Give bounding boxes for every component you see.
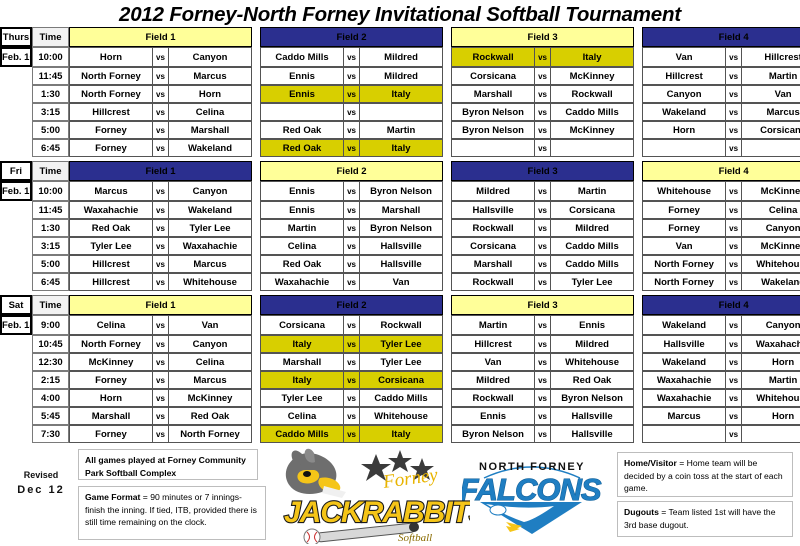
away-team: Rockwall: [360, 315, 443, 335]
schedule-row: 12:30McKinneyvsCelinaMarshallvsTyler Lee…: [0, 353, 800, 371]
field-gap: [634, 121, 642, 139]
game-time: 6:45: [32, 273, 69, 291]
field-gap: [252, 201, 260, 219]
home-team: Celina: [260, 237, 343, 255]
field-gap: [634, 103, 642, 121]
away-team: Byron Nelson: [360, 219, 443, 237]
home-team: Forney: [642, 201, 725, 219]
vs-label: vs: [343, 85, 360, 103]
away-team: Van: [169, 315, 252, 335]
time-column-header: Time: [32, 161, 69, 181]
field-gap: [443, 353, 451, 371]
home-team: Waxahachie: [69, 201, 152, 219]
vs-label: vs: [343, 237, 360, 255]
home-team: Marcus: [642, 407, 725, 425]
home-team: McKinney: [69, 353, 152, 371]
field-gap: [443, 67, 451, 85]
home-team: Red Oak: [69, 219, 152, 237]
day-filler: [0, 237, 32, 255]
vs-label: vs: [152, 273, 169, 291]
game-time: 9:00: [32, 315, 69, 335]
away-team: [742, 425, 800, 443]
vs-label: vs: [343, 67, 360, 85]
dugouts-note: Dugouts = Team listed 1st will have the …: [617, 501, 793, 537]
field-gap: [634, 67, 642, 85]
field-gap: [252, 425, 260, 443]
vs-label: vs: [152, 425, 169, 443]
away-team: Italy: [551, 47, 634, 67]
vs-label: vs: [534, 103, 551, 121]
vs-label: vs: [725, 201, 742, 219]
game-time: 5:00: [32, 255, 69, 273]
away-team: Caddo Mills: [551, 255, 634, 273]
vs-label: vs: [343, 139, 360, 157]
vs-label: vs: [152, 371, 169, 389]
vs-label: vs: [343, 255, 360, 273]
field-gap: [634, 407, 642, 425]
away-team: [360, 103, 443, 121]
north-forney-falcons-logo: NORTH FORNEY FALCONS: [462, 450, 602, 538]
day-filler: [0, 273, 32, 291]
page-title: 2012 Forney-North Forney Invitational So…: [0, 0, 800, 27]
field-gap: [634, 201, 642, 219]
away-team: Mildred: [360, 67, 443, 85]
home-team: Canyon: [642, 85, 725, 103]
vs-label: vs: [152, 315, 169, 335]
field-gap: [634, 139, 642, 157]
away-team: Waxahachie: [742, 335, 800, 353]
away-team: Canyon: [169, 335, 252, 353]
game-time: 3:15: [32, 103, 69, 121]
game-time: 2:15: [32, 371, 69, 389]
away-team: Hallsville: [360, 237, 443, 255]
field-header-4: Field 4: [642, 27, 800, 47]
away-team: Caddo Mills: [360, 389, 443, 407]
field-gap: [634, 371, 642, 389]
home-team: Waxahachie: [642, 371, 725, 389]
field-gap: [443, 425, 451, 443]
home-team: Waxahachie: [642, 389, 725, 407]
home-team: [642, 425, 725, 443]
field-gap: [252, 85, 260, 103]
field-gap: [252, 139, 260, 157]
away-team: McKinney: [551, 121, 634, 139]
day-filler: [0, 67, 32, 85]
field-gap: [634, 237, 642, 255]
away-team: Horn: [169, 85, 252, 103]
vs-label: vs: [725, 219, 742, 237]
field-gap: [634, 335, 642, 353]
away-team: Italy: [360, 85, 443, 103]
vs-label: vs: [534, 47, 551, 67]
day-name-thurs: Thurs: [0, 27, 32, 47]
home-team: Whitehouse: [642, 181, 725, 201]
vs-label: vs: [152, 389, 169, 407]
vs-label: vs: [343, 273, 360, 291]
home-team: Horn: [69, 47, 152, 67]
game-time: 12:30: [32, 353, 69, 371]
day-filler: [0, 353, 32, 371]
game-time: 5:00: [32, 121, 69, 139]
game-time: 1:30: [32, 219, 69, 237]
away-team: Marcus: [169, 67, 252, 85]
away-team: Canyon: [169, 47, 252, 67]
away-team: Canyon: [742, 315, 800, 335]
home-team: Ennis: [260, 201, 343, 219]
home-team: Hillcrest: [642, 67, 725, 85]
vs-label: vs: [152, 219, 169, 237]
away-team: Red Oak: [551, 371, 634, 389]
away-team: Horn: [742, 353, 800, 371]
home-visitor-label: Home/Visitor: [624, 458, 677, 468]
day-filler: [0, 425, 32, 443]
away-team: Whitehouse: [742, 389, 800, 407]
away-team: Wakeland: [169, 139, 252, 157]
home-team: Marshall: [451, 85, 534, 103]
day-filler: [0, 201, 32, 219]
away-team: Hillcrest: [742, 47, 800, 67]
vs-label: vs: [725, 273, 742, 291]
field-gap: [443, 201, 451, 219]
game-time: 6:45: [32, 139, 69, 157]
schedule-row: 1:30Red OakvsTyler LeeMartinvsByron Nels…: [0, 219, 800, 237]
vs-label: vs: [152, 255, 169, 273]
vs-label: vs: [152, 103, 169, 121]
away-team: Corsicana: [360, 371, 443, 389]
vs-label: vs: [534, 139, 551, 157]
vs-label: vs: [534, 219, 551, 237]
vs-label: vs: [725, 407, 742, 425]
home-team: Waxahachie: [260, 273, 343, 291]
away-team: Corsicana: [551, 201, 634, 219]
vs-label: vs: [343, 47, 360, 67]
vs-label: vs: [725, 389, 742, 407]
schedule-row: 1:30North ForneyvsHornEnnisvsItalyMarsha…: [0, 85, 800, 103]
home-team: Van: [642, 47, 725, 67]
vs-label: vs: [725, 139, 742, 157]
field-gap: [443, 219, 451, 237]
field-gap: [634, 219, 642, 237]
vs-label: vs: [534, 273, 551, 291]
vs-label: vs: [534, 67, 551, 85]
home-team: Ennis: [260, 181, 343, 201]
home-team: [642, 139, 725, 157]
vs-label: vs: [725, 315, 742, 335]
away-team: Marcus: [169, 371, 252, 389]
field-gap: [252, 67, 260, 85]
vs-label: vs: [343, 371, 360, 389]
away-team: Hallsville: [551, 425, 634, 443]
away-team: Van: [360, 273, 443, 291]
away-team: McKinney: [169, 389, 252, 407]
vs-label: vs: [534, 85, 551, 103]
home-team: North Forney: [69, 335, 152, 353]
away-team: Italy: [360, 425, 443, 443]
field-gap: [634, 315, 642, 335]
day-filler: [0, 121, 32, 139]
home-team: Hallsville: [451, 201, 534, 219]
field-gap: [443, 315, 451, 335]
vs-label: vs: [152, 139, 169, 157]
day-header-row: SatTimeField 1Field 2Field 3Field 4: [0, 295, 800, 315]
day-header-row: FriTimeField 1Field 2Field 3Field 4: [0, 161, 800, 181]
away-team: Martin: [360, 121, 443, 139]
home-team: [260, 103, 343, 121]
vs-label: vs: [343, 389, 360, 407]
day-filler: [0, 103, 32, 121]
home-team: Forney: [69, 121, 152, 139]
away-team: Waxahachie: [169, 237, 252, 255]
away-team: Whitehouse: [169, 273, 252, 291]
schedule-row: 3:15Tyler LeevsWaxahachieCelinavsHallsvi…: [0, 237, 800, 255]
vs-label: vs: [725, 255, 742, 273]
away-team: Van: [742, 85, 800, 103]
schedule-row: 3:15HillcrestvsCelinavsByron NelsonvsCad…: [0, 103, 800, 121]
field-header-4: Field 4: [642, 295, 800, 315]
home-team: Hillcrest: [69, 103, 152, 121]
home-team: Italy: [260, 371, 343, 389]
vs-label: vs: [343, 201, 360, 219]
field-gap: [252, 27, 260, 47]
away-team: McKinney: [742, 237, 800, 255]
game-time: 5:45: [32, 407, 69, 425]
schedule-row: 2:15ForneyvsMarcusItalyvsCorsicanaMildre…: [0, 371, 800, 389]
home-team: Horn: [642, 121, 725, 139]
day-header-row: ThursTimeField 1Field 2Field 3Field 4: [0, 27, 800, 47]
vs-label: vs: [343, 121, 360, 139]
away-team: Wakeland: [169, 201, 252, 219]
vs-label: vs: [534, 237, 551, 255]
field-header-2: Field 2: [260, 27, 443, 47]
vs-label: vs: [343, 315, 360, 335]
away-team: [551, 139, 634, 157]
schedule-row: 11:45North ForneyvsMarcusEnnisvsMildredC…: [0, 67, 800, 85]
field-gap: [634, 425, 642, 443]
falcons-main-text: FALCONS: [462, 472, 602, 507]
away-team: Mildred: [551, 335, 634, 353]
home-team: North Forney: [69, 67, 152, 85]
away-team: Martin: [551, 181, 634, 201]
schedule-row: 5:00ForneyvsMarshallRed OakvsMartinByron…: [0, 121, 800, 139]
vs-label: vs: [534, 121, 551, 139]
away-team: Mildred: [360, 47, 443, 67]
away-team: Caddo Mills: [551, 237, 634, 255]
game-time: 3:15: [32, 237, 69, 255]
field-gap: [252, 353, 260, 371]
forney-jackrabbits-logo: Forney JACKRABBITS Softball: [280, 448, 470, 544]
away-team: Caddo Mills: [551, 103, 634, 121]
home-team: Marshall: [451, 255, 534, 273]
home-team: Corsicana: [451, 237, 534, 255]
game-time: 11:45: [32, 201, 69, 219]
field-gap: [252, 335, 260, 353]
schedule-row: 6:45ForneyvsWakelandRed OakvsItalyvsvs: [0, 139, 800, 157]
field-gap: [634, 181, 642, 201]
home-team: Ennis: [451, 407, 534, 425]
vs-label: vs: [152, 201, 169, 219]
home-team: Red Oak: [260, 139, 343, 157]
vs-label: vs: [152, 237, 169, 255]
schedule-row: 4:00HornvsMcKinneyTyler LeevsCaddo Mills…: [0, 389, 800, 407]
away-team: Tyler Lee: [360, 335, 443, 353]
game-time: 7:30: [32, 425, 69, 443]
day-filler: [0, 85, 32, 103]
day-filler: [0, 407, 32, 425]
day-name-fri: Fri: [0, 161, 32, 181]
home-team: Red Oak: [260, 121, 343, 139]
day-filler: [0, 371, 32, 389]
vs-label: vs: [725, 181, 742, 201]
day-filler: [0, 389, 32, 407]
away-team: [742, 139, 800, 157]
revised-label: Revised: [6, 468, 76, 483]
day-date-fri: Feb. 17: [0, 181, 32, 201]
vs-label: vs: [534, 315, 551, 335]
field-gap: [443, 103, 451, 121]
away-team: Canyon: [742, 219, 800, 237]
home-team: Hillcrest: [69, 273, 152, 291]
field-gap: [252, 237, 260, 255]
vs-label: vs: [343, 353, 360, 371]
field-gap: [252, 103, 260, 121]
vs-label: vs: [725, 103, 742, 121]
field-gap: [443, 139, 451, 157]
away-team: Corsicana: [742, 121, 800, 139]
away-team: Celina: [169, 353, 252, 371]
away-team: Italy: [360, 139, 443, 157]
game-time: 10:45: [32, 335, 69, 353]
away-team: Martin: [742, 371, 800, 389]
schedule-row: 5:00HillcrestvsMarcusRed OakvsHallsville…: [0, 255, 800, 273]
game-time: 10:00: [32, 181, 69, 201]
field-header-3: Field 3: [451, 27, 634, 47]
field-gap: [252, 121, 260, 139]
home-visitor-note: Home/Visitor = Home team will be decided…: [617, 452, 793, 497]
home-team: Ennis: [260, 85, 343, 103]
vs-label: vs: [152, 353, 169, 371]
field-gap: [443, 181, 451, 201]
away-team: Hallsville: [360, 255, 443, 273]
home-team: Van: [642, 237, 725, 255]
vs-label: vs: [343, 103, 360, 121]
vs-label: vs: [534, 425, 551, 443]
revised-date: Dec 12: [6, 483, 76, 498]
away-team: Martin: [742, 67, 800, 85]
home-team: Hillcrest: [69, 255, 152, 273]
home-team: Celina: [260, 407, 343, 425]
vs-label: vs: [725, 121, 742, 139]
day-filler: [0, 335, 32, 353]
schedule-row: Feb. 1610:00HornvsCanyonCaddo MillsvsMil…: [0, 47, 800, 67]
field-gap: [634, 353, 642, 371]
away-team: North Forney: [169, 425, 252, 443]
vs-label: vs: [725, 85, 742, 103]
schedule-row: 10:45North ForneyvsCanyonItalyvsTyler Le…: [0, 335, 800, 353]
away-team: Whitehouse: [551, 353, 634, 371]
home-team: Corsicana: [260, 315, 343, 335]
home-team: Horn: [69, 389, 152, 407]
field-gap: [634, 47, 642, 67]
field-gap: [443, 407, 451, 425]
field-gap: [443, 371, 451, 389]
field-header-3: Field 3: [451, 295, 634, 315]
field-gap: [252, 295, 260, 315]
field-gap: [443, 273, 451, 291]
revised-block: Revised Dec 12: [6, 468, 76, 498]
day-filler: [0, 139, 32, 157]
schedule-row: Feb. 189:00CelinavsVanCorsicanavsRockwal…: [0, 315, 800, 335]
home-team: Ennis: [260, 67, 343, 85]
field-gap: [252, 389, 260, 407]
home-team: Byron Nelson: [451, 103, 534, 121]
vs-label: vs: [534, 255, 551, 273]
home-team: Rockwall: [451, 47, 534, 67]
schedule-row: 7:30ForneyvsNorth ForneyCaddo MillsvsIta…: [0, 425, 800, 443]
vs-label: vs: [725, 353, 742, 371]
field-gap: [634, 85, 642, 103]
field-gap: [252, 161, 260, 181]
day-date-thurs: Feb. 16: [0, 47, 32, 67]
home-team: North Forney: [69, 85, 152, 103]
home-team: Forney: [69, 371, 152, 389]
home-team: North Forney: [642, 273, 725, 291]
away-team: Marshall: [360, 201, 443, 219]
away-team: Marcus: [742, 103, 800, 121]
field-gap: [634, 389, 642, 407]
away-team: Tyler Lee: [169, 219, 252, 237]
day-filler: [0, 255, 32, 273]
field-gap: [252, 371, 260, 389]
field-header-3: Field 3: [451, 161, 634, 181]
game-format-note: Game Format = 90 minutes or 7 innings-fi…: [78, 486, 266, 540]
away-team: Tyler Lee: [551, 273, 634, 291]
field-header-1: Field 1: [69, 295, 252, 315]
away-team: Byron Nelson: [551, 389, 634, 407]
field-header-2: Field 2: [260, 161, 443, 181]
field-gap: [634, 273, 642, 291]
home-team: Byron Nelson: [451, 425, 534, 443]
away-team: Marshall: [169, 121, 252, 139]
game-time: 11:45: [32, 67, 69, 85]
home-team: Marshall: [260, 353, 343, 371]
vs-label: vs: [534, 335, 551, 353]
away-team: Marcus: [169, 255, 252, 273]
field-gap: [634, 255, 642, 273]
vs-label: vs: [725, 47, 742, 67]
field-gap: [252, 407, 260, 425]
field-gap: [634, 27, 642, 47]
vs-label: vs: [534, 181, 551, 201]
away-team: Wakeland: [742, 273, 800, 291]
home-team: Red Oak: [260, 255, 343, 273]
home-team: Caddo Mills: [260, 425, 343, 443]
home-team: Wakeland: [642, 315, 725, 335]
logo-script-text: Forney: [381, 464, 440, 493]
svg-text:JACKRABBITS: JACKRABBITS: [284, 496, 470, 529]
vs-label: vs: [152, 85, 169, 103]
time-column-header: Time: [32, 27, 69, 47]
home-team: Forney: [69, 425, 152, 443]
field-gap: [443, 121, 451, 139]
vs-label: vs: [152, 67, 169, 85]
field-gap: [443, 47, 451, 67]
field-gap: [443, 295, 451, 315]
game-time: 4:00: [32, 389, 69, 407]
home-team: Martin: [451, 315, 534, 335]
away-team: Whitehouse: [360, 407, 443, 425]
away-team: McKinney: [742, 181, 800, 201]
home-team: Wakeland: [642, 353, 725, 371]
